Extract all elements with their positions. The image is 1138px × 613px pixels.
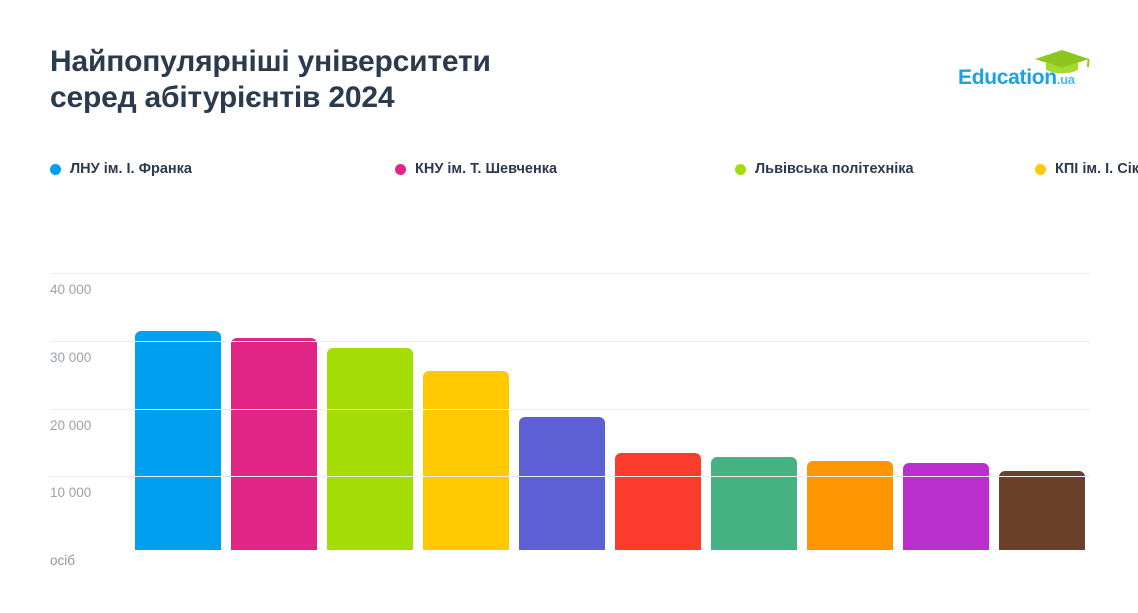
chart-page: Найпопулярніші університети серед абітур…	[0, 0, 1138, 613]
gridline	[50, 341, 1090, 342]
chart-legend: ЛНУ ім. І. ФранкаКНУ ім. Т. ШевченкаЛьві…	[50, 155, 1090, 183]
education-ua-logo[interactable]: Education.ua	[958, 50, 1090, 92]
gridline	[50, 273, 1090, 274]
y-axis-tick-label: 40 000	[50, 282, 91, 297]
legend-item[interactable]: ЛНУ ім. І. Франка	[50, 155, 395, 183]
bar[interactable]	[231, 338, 317, 550]
bar[interactable]	[711, 457, 797, 550]
legend-item[interactable]: КПІ ім. І. Сікорського	[1035, 155, 1138, 183]
bar[interactable]	[135, 331, 221, 550]
bar[interactable]	[519, 417, 605, 550]
legend-item[interactable]: Львівська політехніка	[735, 155, 1035, 183]
legend-item-label: Львівська політехніка	[755, 161, 914, 177]
page-title: Найпопулярніші університети серед абітур…	[50, 44, 650, 116]
header: Найпопулярніші університети серед абітур…	[50, 44, 1090, 134]
logo-name: Education	[958, 66, 1057, 89]
legend-color-swatch-icon	[50, 164, 61, 175]
bar[interactable]	[327, 348, 413, 550]
logo-tld: .ua	[1057, 72, 1075, 87]
legend-color-swatch-icon	[1035, 164, 1046, 175]
gridline	[50, 409, 1090, 410]
bar[interactable]	[807, 461, 893, 550]
page-title-line-2: серед абітурієнтів 2024	[50, 80, 650, 116]
legend-item[interactable]: КНУ ім. Т. Шевченка	[395, 155, 735, 183]
y-axis-unit-label: осіб	[50, 553, 75, 568]
bar-chart: 10 00020 00030 00040 000	[50, 275, 1090, 550]
legend-item-label: КПІ ім. І. Сікорського	[1055, 161, 1138, 177]
y-axis-tick-label: 20 000	[50, 418, 91, 433]
legend-item-label: ЛНУ ім. І. Франка	[70, 161, 192, 177]
bar[interactable]	[615, 453, 701, 550]
gridline	[50, 476, 1090, 477]
bar[interactable]	[999, 471, 1085, 550]
plot-area: 10 00020 00030 00040 000	[50, 275, 1090, 550]
y-axis-tick-label: 10 000	[50, 485, 91, 500]
bars-group	[135, 281, 1085, 550]
page-title-line-1: Найпопулярніші університети	[50, 44, 650, 80]
legend-item-label: КНУ ім. Т. Шевченка	[415, 161, 557, 177]
legend-color-swatch-icon	[395, 164, 406, 175]
logo-wordmark: Education.ua	[958, 66, 1075, 90]
y-axis-tick-label: 30 000	[50, 350, 91, 365]
bar[interactable]	[423, 371, 509, 550]
legend-color-swatch-icon	[735, 164, 746, 175]
